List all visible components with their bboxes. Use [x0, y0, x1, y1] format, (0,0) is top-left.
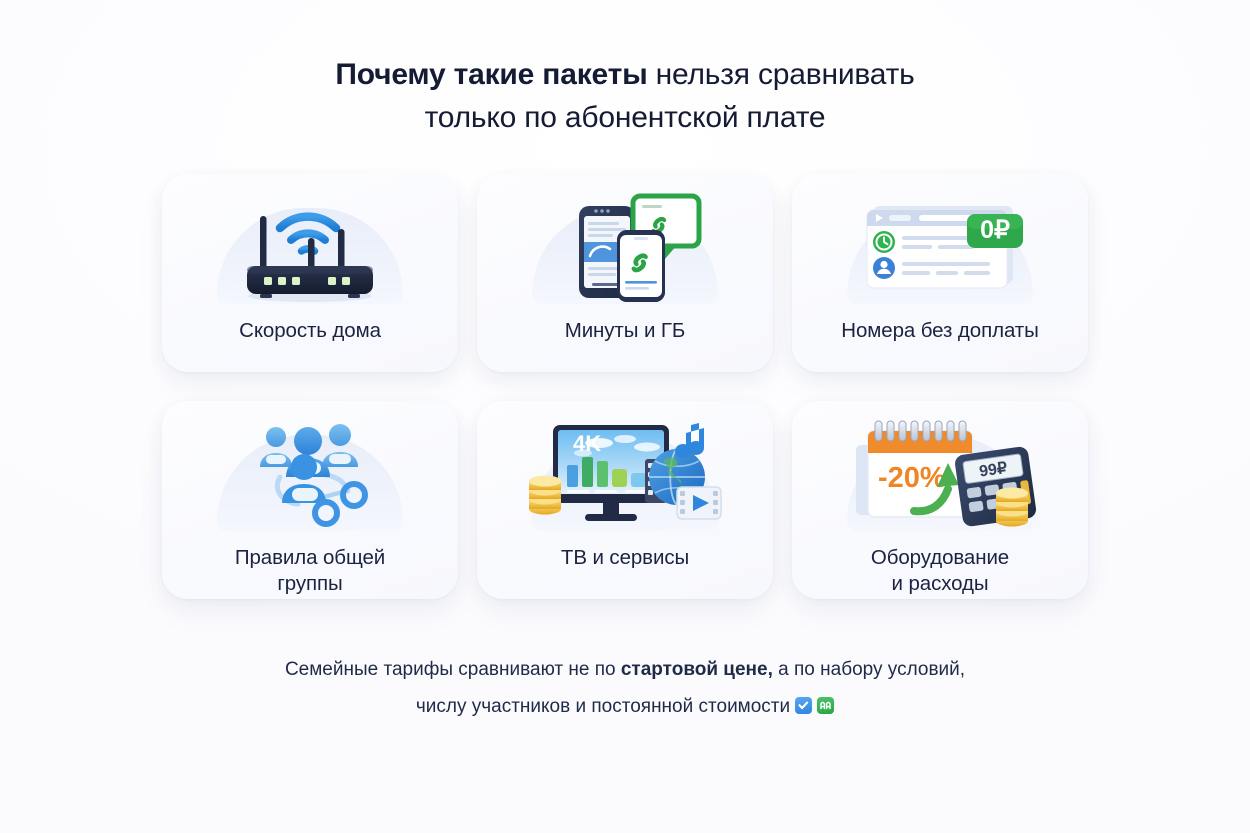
icon-stage — [510, 182, 740, 308]
card-minutes-gb[interactable]: Минуты и ГБ — [477, 174, 773, 372]
card-home-speed[interactable]: Скорость дома — [162, 174, 458, 372]
icon-stage — [195, 182, 425, 308]
card-label-line-2: и расходы — [815, 571, 1065, 597]
footer-text-b: а по набору условий, — [773, 659, 965, 680]
coin-stack — [529, 476, 561, 515]
footer-line-2: числу участников и постоянной стоимости — [285, 688, 965, 725]
phones-call-bubble-icon — [537, 184, 713, 308]
infographic-page: Почему такие пакеты нельзя сравнивать то… — [0, 0, 1250, 833]
title-line-1: Почему такие пакеты нельзя сравнивать — [335, 54, 914, 97]
title-bold-part: Почему такие пакеты — [335, 58, 647, 91]
card-label: Номера без доплаты — [815, 318, 1065, 344]
icon-stage: 0₽ — [825, 182, 1055, 308]
tv-globe-media-icon: 4K — [527, 411, 723, 535]
card-group-rules[interactable]: Правила общей группы — [162, 401, 458, 599]
footer-text-c: числу участников и постоянной стоимости — [416, 696, 790, 717]
icon-stage: -20% 99₽ — [825, 409, 1055, 535]
footer-text-a: Семейные тарифы сравнивают не по — [285, 659, 621, 680]
calendar-discount-calculator-icon: -20% 99₽ — [842, 411, 1038, 535]
card-tv-services[interactable]: 4K — [477, 401, 773, 599]
card-label-line-1: Правила общей — [185, 545, 435, 571]
feature-card-grid: Скорость дома — [125, 174, 1125, 599]
footer-caption: Семейные тарифы сравнивают не по стартов… — [285, 651, 965, 725]
icon-stage — [195, 409, 425, 535]
discount-text: -20% — [878, 462, 946, 494]
title-regular-part: нельзя сравнивать — [648, 58, 915, 91]
zero-price-badge-text: 0₽ — [980, 216, 1010, 244]
group-network-icon — [222, 411, 398, 535]
card-equipment-expenses[interactable]: -20% 99₽ — [792, 401, 1088, 599]
card-label: ТВ и сервисы — [500, 545, 750, 571]
icon-stage: 4K — [510, 409, 740, 535]
page-title: Почему такие пакеты нельзя сравнивать то… — [335, 54, 914, 139]
screen-resolution-text: 4K — [573, 431, 601, 456]
title-line-2: только по абонентской плате — [335, 97, 914, 140]
wifi-router-icon — [222, 184, 398, 308]
card-label-line-2: группы — [185, 571, 435, 597]
coin-stack — [996, 488, 1028, 527]
check-badge-icon — [795, 697, 812, 714]
abc-badge-icon — [817, 697, 834, 714]
footer-bold-part: стартовой цене, — [621, 659, 773, 680]
account-list-zero-price-icon: 0₽ — [847, 184, 1033, 308]
card-label: Минуты и ГБ — [500, 318, 750, 344]
card-numbers-no-surcharge[interactable]: 0₽ Номера без доплаты — [792, 174, 1088, 372]
footer-line-1: Семейные тарифы сравнивают не по стартов… — [285, 651, 965, 688]
card-label: Скорость дома — [185, 318, 435, 344]
card-label: Правила общей группы — [185, 545, 435, 597]
card-label: Оборудование и расходы — [815, 545, 1065, 597]
card-label-line-1: Оборудование — [815, 545, 1065, 571]
